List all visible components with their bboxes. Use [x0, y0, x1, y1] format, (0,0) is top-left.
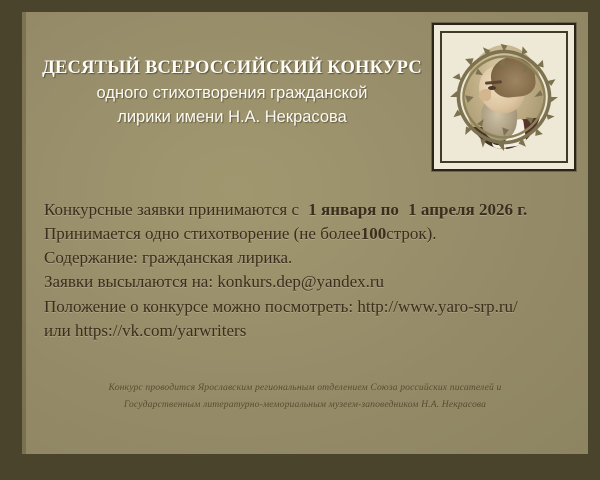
body-line-email: Заявки высылаются на: konkurs.dep@yandex… [44, 270, 574, 294]
body-line-alt-link: или https://vk.com/yarwriters [44, 319, 574, 343]
body-line-poem-limit: Принимается одно стихотворение (не более… [44, 222, 574, 246]
alt-link-prefix: или [44, 321, 71, 340]
poem-limit-suffix: строк). [386, 224, 436, 243]
poster-canvas: ДЕСЯТЫЙ ВСЕРОССИЙСКИЙ КОНКУРС одного сти… [22, 12, 588, 454]
footer-line-1: Конкурс проводится Ярославским региональ… [40, 380, 570, 397]
poem-limit-count: 100 [361, 224, 387, 243]
thorn-wreath-icon [450, 41, 558, 153]
vk-url[interactable]: https://vk.com/yarwriters [75, 321, 246, 340]
body-line-theme: Содержание: гражданская лирика. [44, 246, 574, 270]
body-line-deadline: Конкурсные заявки принимаются с 1 января… [44, 198, 574, 222]
subtitle-line-1: одного стихотворения гражданской [32, 82, 432, 104]
regulations-prefix: Положение о конкурсе можно посмотреть: [44, 297, 353, 316]
portrait-block [432, 23, 576, 171]
regulations-url[interactable]: http://www.yaro-srp.ru/ [357, 297, 517, 316]
footer-block: Конкурс проводится Ярославским региональ… [40, 380, 570, 414]
portrait-stage [450, 41, 558, 153]
contact-email[interactable]: konkurs.dep@yandex.ru [217, 272, 384, 291]
title-area: ДЕСЯТЫЙ ВСЕРОССИЙСКИЙ КОНКУРС одного сти… [32, 58, 432, 128]
poem-limit-prefix: Принимается одно стихотворение (не более [44, 224, 361, 243]
deadline-middle: по [381, 200, 399, 219]
subtitle-line-2: лирики имени Н.А. Некрасова [32, 106, 432, 128]
footer-line-2: Государственным литературно-мемориальным… [40, 397, 570, 414]
deadline-date-to: 1 апреля 2026 г. [408, 200, 527, 219]
deadline-prefix: Конкурсные заявки принимаются с [44, 200, 299, 219]
poster-frame: ДЕСЯТЫЙ ВСЕРОССИЙСКИЙ КОНКУРС одного сти… [0, 0, 600, 480]
body-text-block: Конкурсные заявки принимаются с 1 января… [44, 198, 574, 343]
portrait-mat [440, 31, 568, 163]
body-line-regulations: Положение о конкурсе можно посмотреть: h… [44, 295, 574, 319]
page-title: ДЕСЯТЫЙ ВСЕРОССИЙСКИЙ КОНКУРС [32, 58, 432, 78]
portrait-outer-frame [432, 23, 576, 171]
deadline-date-from: 1 января [308, 200, 376, 219]
email-prefix: Заявки высылаются на: [44, 272, 213, 291]
